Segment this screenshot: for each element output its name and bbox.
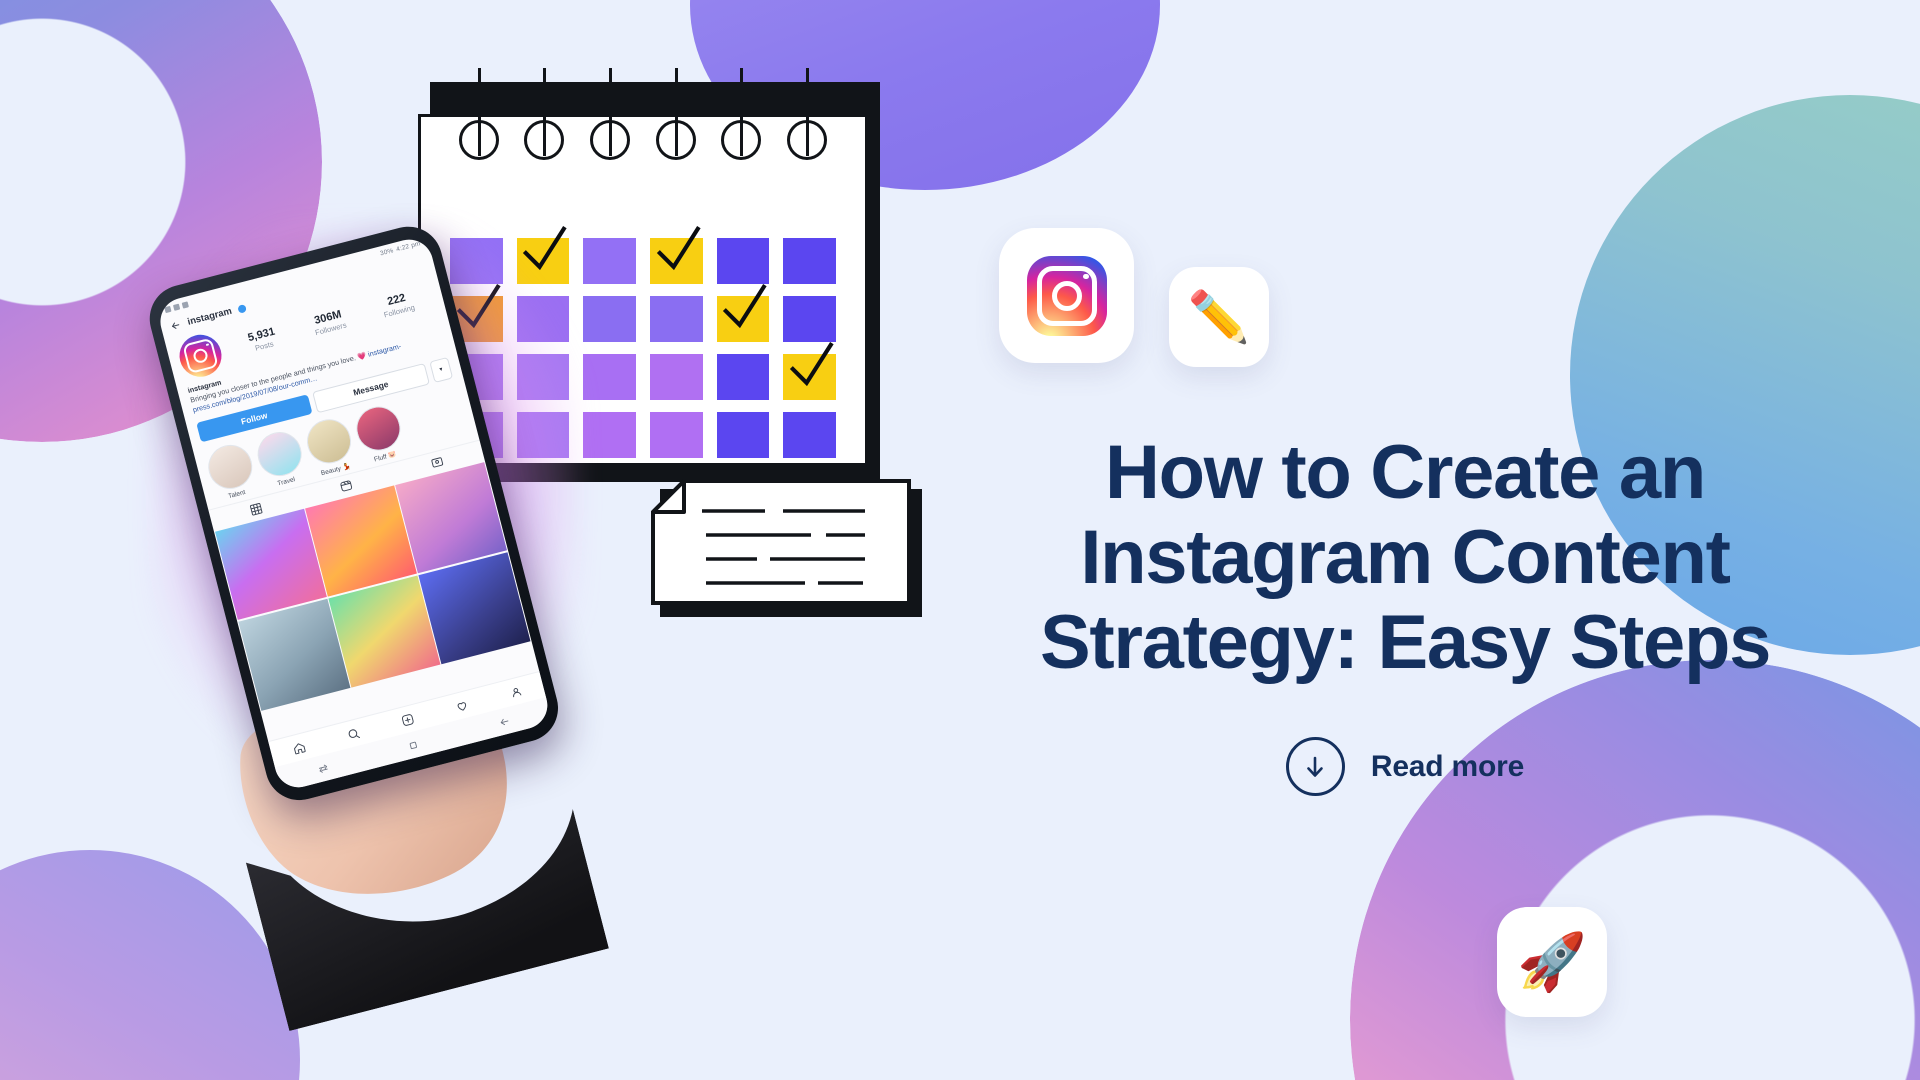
profile-icon[interactable] (508, 684, 524, 700)
recents-icon[interactable] (317, 761, 330, 774)
read-more-label: Read more (1371, 750, 1524, 784)
profile-stat[interactable]: 222Following (380, 291, 416, 319)
calendar-rings (418, 68, 868, 188)
headline-line-2: Instagram Content (1010, 515, 1800, 600)
story-highlight[interactable]: Talent (202, 440, 259, 505)
calendar-day (650, 354, 703, 400)
calendar-ring (656, 68, 696, 188)
calendar-day (783, 296, 836, 342)
calendar-day (650, 296, 703, 342)
calendar-ring (721, 68, 761, 188)
story-highlight[interactable]: Beauty 💃 (301, 414, 358, 479)
hero-text-column: How to Create an Instagram Content Strat… (1010, 430, 1800, 796)
highlight-thumb (252, 427, 306, 481)
calendar-day-checked (783, 354, 836, 400)
back-icon[interactable] (497, 715, 510, 728)
calendar-ring (524, 68, 564, 188)
calendar-ring (459, 68, 499, 188)
grid-tab-icon[interactable] (248, 501, 264, 517)
calendar-day-checked (717, 296, 770, 342)
pencil-badge[interactable]: ✏️ (1169, 267, 1269, 367)
highlight-thumb (302, 414, 356, 468)
search-icon[interactable] (345, 726, 361, 742)
more-options-caret-icon[interactable]: ▾ (429, 357, 453, 383)
battery-level: 30% (379, 247, 394, 257)
highlight-thumb (203, 440, 257, 494)
calendar-day (717, 238, 770, 284)
instagram-logo-badge[interactable] (999, 228, 1134, 363)
calendar-ring (590, 68, 630, 188)
calendar-ring (787, 68, 827, 188)
story-highlight[interactable]: Fluff 🐷 (351, 401, 408, 466)
calendar-day (717, 412, 770, 458)
reels-tab-icon[interactable] (339, 478, 355, 494)
story-highlight[interactable]: Travel (252, 427, 309, 492)
home-square-icon[interactable] (407, 738, 420, 751)
instagram-icon (1027, 256, 1107, 336)
calendar-day (650, 412, 703, 458)
verified-badge-icon (238, 304, 248, 314)
profile-stat[interactable]: 306MFollowers (311, 308, 347, 336)
headline-line-1: How to Create an (1010, 430, 1800, 515)
page-title: How to Create an Instagram Content Strat… (1010, 430, 1800, 685)
profile-stat[interactable]: 5,931Posts (247, 326, 279, 353)
back-arrow-icon[interactable] (169, 318, 182, 331)
heart-icon[interactable] (453, 698, 469, 714)
poster-canvas: 30% 4:22 pm instagram 5,931Posts306MFoll… (0, 0, 1920, 1080)
status-notification-icons (164, 301, 189, 313)
calendar-day (583, 238, 636, 284)
rocket-icon: 🚀 (1517, 934, 1587, 990)
note-card-face (650, 478, 912, 606)
add-post-icon[interactable] (399, 712, 415, 728)
calendar-day (783, 238, 836, 284)
calendar-day (583, 354, 636, 400)
calendar-day (583, 296, 636, 342)
read-more-button[interactable]: Read more (1010, 737, 1800, 796)
calendar-day (783, 412, 836, 458)
note-card-illustration (650, 478, 912, 606)
tagged-tab-icon[interactable] (429, 454, 445, 470)
headline-line-3: Strategy: Easy Steps (1010, 600, 1800, 685)
pencil-icon: ✏️ (1188, 292, 1250, 342)
calendar-day (717, 354, 770, 400)
rocket-badge[interactable]: 🚀 (1497, 907, 1607, 1017)
calendar-day-checked (650, 238, 703, 284)
home-icon[interactable] (291, 740, 307, 756)
arrow-down-circle-icon (1286, 737, 1345, 796)
highlight-thumb (351, 402, 405, 456)
